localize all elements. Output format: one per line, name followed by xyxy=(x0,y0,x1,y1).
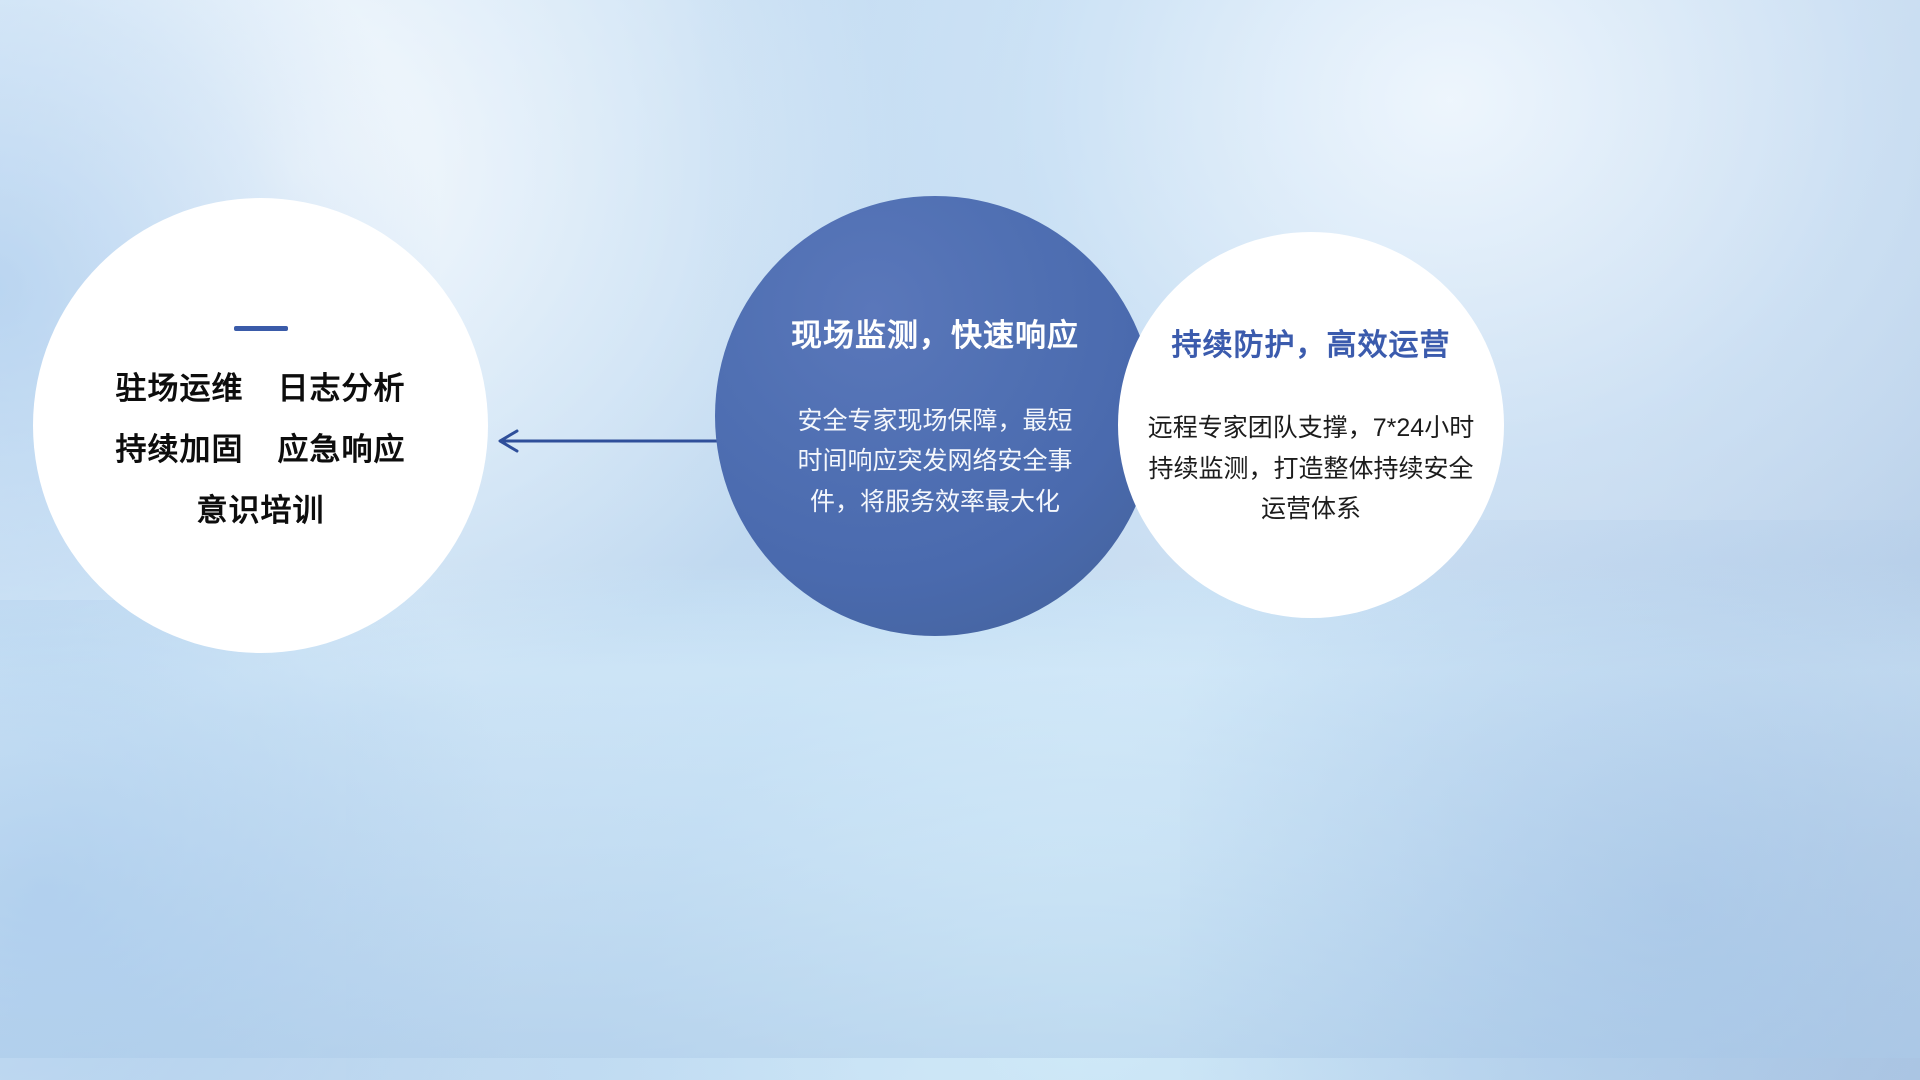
middle-circle-title: 现场监测，快速响应 xyxy=(791,310,1079,355)
middle-circle-body: 安全专家现场保障，最短时间响应突发网络安全事件，将服务效率最大化 xyxy=(792,401,1078,523)
background-edge-bottom-left xyxy=(0,600,500,1080)
keyword-row-3: 意识培训 xyxy=(197,495,325,526)
capability-circle-left[interactable]: 驻场运维 日志分析 持续加固 应急响应 意识培训 xyxy=(33,198,488,653)
capability-circle-middle[interactable]: 现场监测，快速响应 安全专家现场保障，最短时间响应突发网络安全事件，将服务效率最… xyxy=(715,196,1155,636)
keyword-continuous-hardening: 持续加固 xyxy=(116,434,244,465)
keyword-row-1: 驻场运维 日志分析 xyxy=(116,373,406,404)
arrow-left-icon xyxy=(495,425,720,457)
dash-accent-icon xyxy=(234,326,288,331)
keyword-onsite-ops: 驻场运维 xyxy=(116,373,244,404)
connector-arrow xyxy=(495,425,720,457)
keyword-awareness-training: 意识培训 xyxy=(197,495,325,526)
right-circle-body: 远程专家团队支撑，7*24小时持续监测，打造整体持续安全运营体系 xyxy=(1144,408,1478,530)
capability-circle-right[interactable]: 持续防护，高效运营 远程专家团队支撑，7*24小时持续监测，打造整体持续安全运营… xyxy=(1118,232,1504,618)
keyword-log-analysis: 日志分析 xyxy=(278,373,406,404)
keyword-row-2: 持续加固 应急响应 xyxy=(116,434,406,465)
slide-canvas: 驻场运维 日志分析 持续加固 应急响应 意识培训 现场监测，快速响应 安全专家现… xyxy=(0,0,1920,1080)
keyword-emergency-response: 应急响应 xyxy=(278,434,406,465)
right-circle-title: 持续防护，高效运营 xyxy=(1172,320,1451,364)
